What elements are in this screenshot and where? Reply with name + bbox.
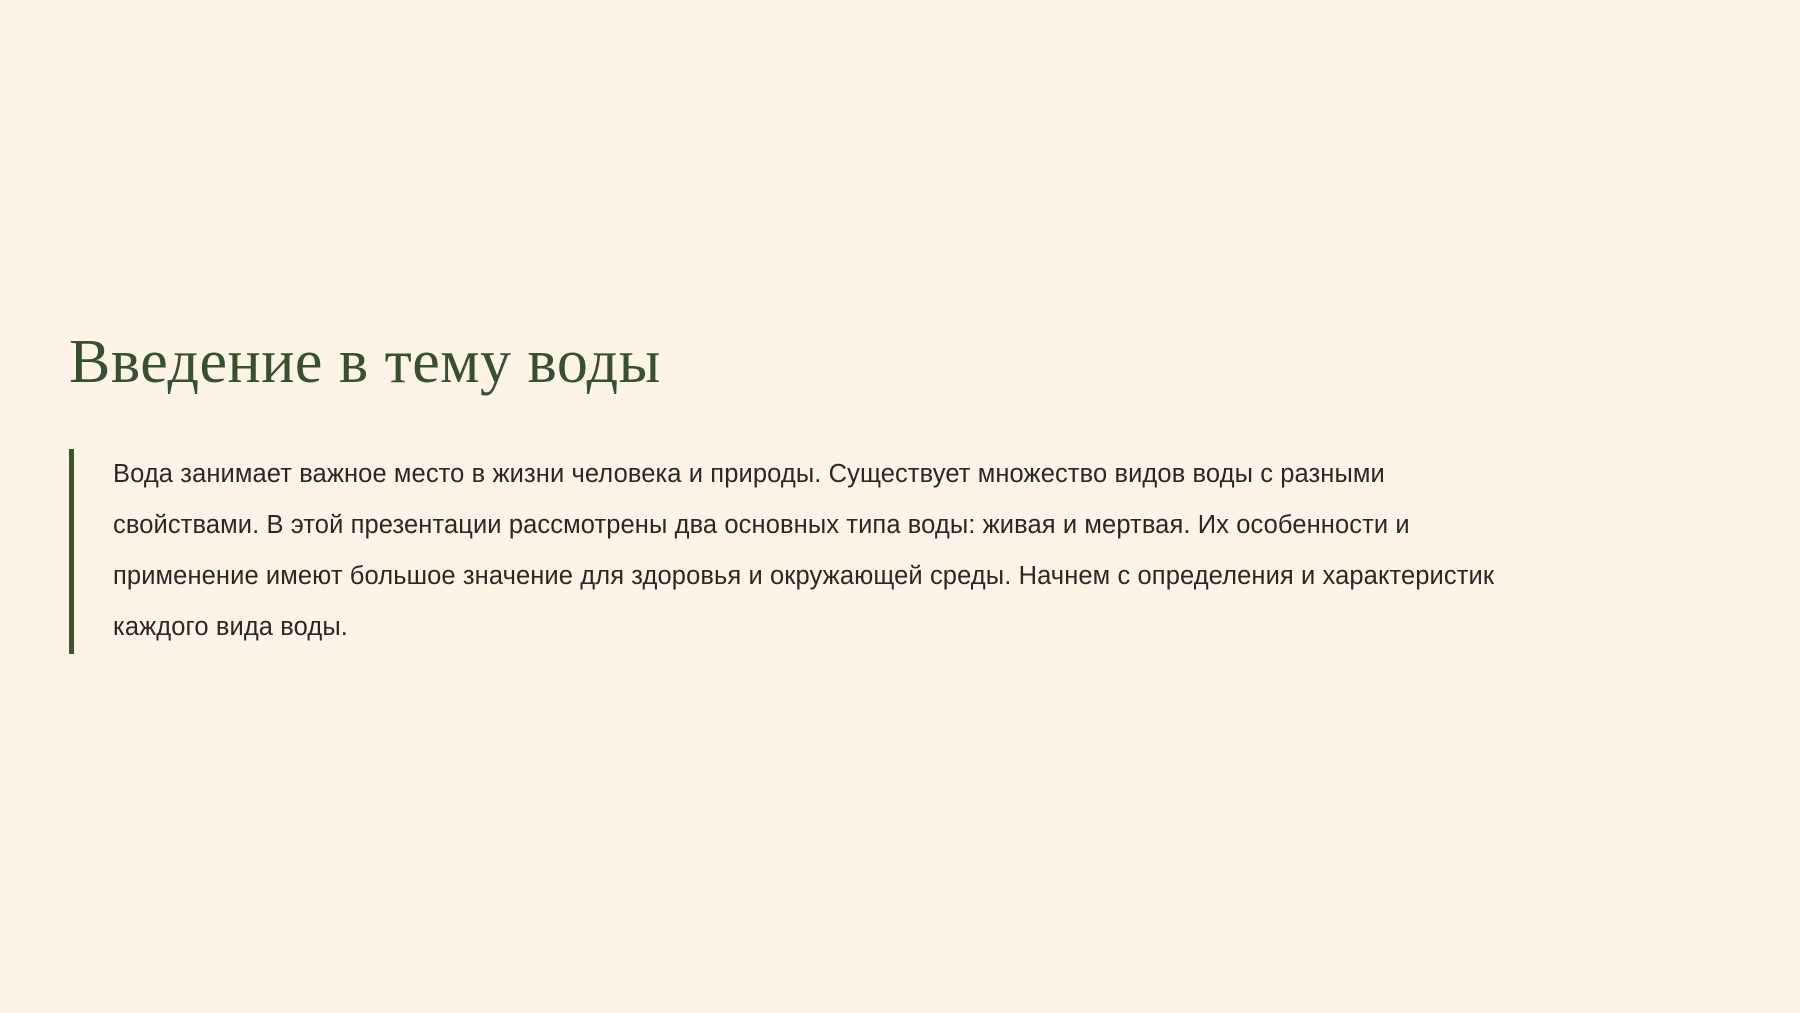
slide-content: Введение в тему воды Вода занимает важно… <box>69 330 1729 654</box>
page-title: Введение в тему воды <box>69 330 1729 395</box>
body-paragraph: Вода занимает важное место в жизни челов… <box>113 449 1513 653</box>
body-block: Вода занимает важное место в жизни челов… <box>69 449 1729 654</box>
accent-bar <box>69 449 74 654</box>
presentation-slide: Введение в тему воды Вода занимает важно… <box>0 0 1800 1013</box>
